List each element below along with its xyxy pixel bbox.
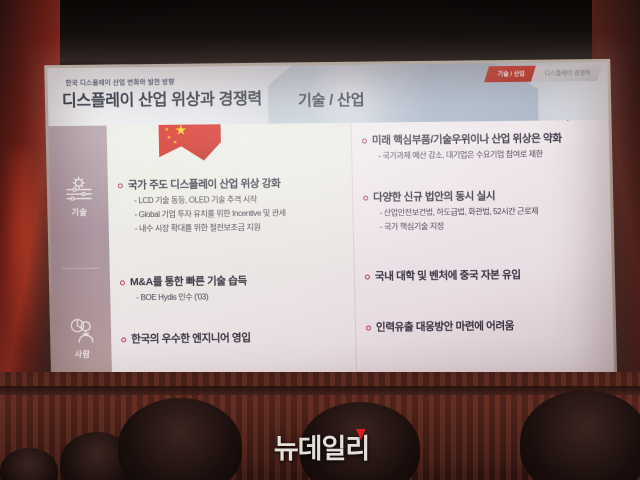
bullet-subpoint: - Global 기업 투자 유치를 위한 Incentive 및 관세: [134, 207, 344, 220]
bullet-heading-text: 인력유출 대응방안 마련에 어려움: [376, 318, 514, 335]
bullet-ring-icon: [120, 280, 125, 285]
bullet-heading-text: 국가 주도 디스플레이 산업 위상 강화: [128, 176, 281, 193]
audience-head: [118, 398, 242, 480]
bullet-ring-icon: [118, 183, 123, 188]
bullet-block: 국가 주도 디스플레이 산업 위상 강화 - LCD 기술 동등, OLED 기…: [118, 175, 345, 235]
bullet-ring-icon: [121, 337, 126, 342]
watermark-triangle-accent: [356, 429, 366, 440]
bullet-heading: 한국의 우수한 엔지니어 영입: [121, 329, 347, 347]
bullet-subpoint: - LCD 기술 동등, OLED 기술 추격 시작: [134, 193, 344, 206]
audience-head: [0, 448, 58, 480]
bullet-subpoint: - 국가 핵심기술 지정: [380, 219, 603, 233]
slide-header: 한국 디스플레이 산업 변화와 발전 방향 디스플레이 산업 위상과 경쟁력 기…: [47, 62, 608, 126]
bullet-block: 한국의 우수한 엔지니어 영입: [121, 329, 347, 347]
left-content-column: ★ ★ ★ ★ ★ 국가 주도 디스플레이 산업 위상 강화 - LCD 기술 …: [107, 123, 357, 410]
watermark-text: 뉴데일리: [274, 427, 369, 466]
bullet-heading: 국내 대학 및 벤처에 중국 자본 유입: [365, 266, 604, 284]
tab-display-competitiveness-label: 디스플레이 경쟁력: [545, 68, 591, 78]
bullet-heading: M&A를 통한 빠른 기술 습득: [120, 272, 346, 290]
right-column-spacer-1: [363, 165, 602, 190]
bullet-block: 미래 핵심부품/기술우위이나 산업 위상은 약화 - 국가과제 예산 감소, 대…: [362, 130, 602, 162]
right-column-spacer-2: [364, 236, 604, 269]
bullet-heading-text: M&A를 통한 빠른 기술 습득: [130, 273, 247, 289]
left-curtain-light-glow: [2, 150, 42, 350]
bullet-ring-icon: [366, 326, 371, 331]
tab-display-competitiveness[interactable]: 디스플레이 경쟁력: [531, 65, 602, 82]
bullet-heading-text: 다양한 신규 법안의 동시 실시: [373, 188, 495, 204]
bullet-heading: 국가 주도 디스플레이 산업 위상 강화: [118, 175, 344, 193]
bullet-subpoint: - BOE Hydis 인수 ('03): [136, 290, 346, 303]
bullet-heading-text: 국내 대학 및 벤처에 중국 자본 유입: [375, 267, 521, 284]
china-flag-small-star-4: ★: [173, 141, 178, 146]
tab-technology-industry-label: 기술 / 산업: [498, 69, 525, 78]
bullet-block: 인력유출 대응방안 마련에 어려움: [366, 317, 605, 335]
wall-rail-trim: [0, 386, 640, 395]
china-flag-small-star-2: ★: [165, 128, 170, 133]
bullet-subpoint: - 산업안전보건법, 하도급법, 화관법, 52시간 근로제: [379, 205, 602, 219]
category-icon-rail: 기술 사람: [49, 126, 113, 411]
slide-title: 디스플레이 산업 위상과 경쟁력: [62, 85, 262, 111]
gear-settings-icon: [64, 175, 95, 201]
tab-technology-industry[interactable]: 기술 / 산업: [484, 66, 536, 83]
china-flag-small-star-3: ★: [167, 136, 172, 141]
left-column-top-spacer: [117, 129, 344, 178]
rail-item-technology[interactable]: 기술: [49, 126, 110, 268]
bullet-heading: 미래 핵심부품/기술우위이나 산업 위상은 약화: [362, 130, 601, 148]
slide-body: 기술 사람: [49, 120, 615, 410]
bullet-block: 다양한 신규 법안의 동시 실시 - 산업안전보건법, 하도급법, 화관법, 5…: [363, 187, 603, 233]
south-korea-flag-icon: [526, 120, 601, 127]
newdaily-watermark: 뉴데일리: [274, 427, 366, 466]
bullet-ring-icon: [365, 275, 370, 280]
ceiling-shadow: [0, 0, 640, 62]
china-flag-big-star: ★: [174, 123, 187, 137]
left-column-lower-spacer: [121, 307, 347, 332]
bullet-subpoint: - 국가과제 예산 감소, 대기업은 수요기업 참여로 제한: [378, 148, 601, 162]
bullet-ring-icon: [362, 139, 367, 144]
bullet-heading: 인력유출 대응방안 마련에 어려움: [366, 317, 605, 335]
rail-item-people-label: 사람: [75, 349, 91, 360]
audience-head: [520, 390, 640, 480]
bullet-subpoint: - 내수 시장 확대를 위한 절전보조금 지원: [135, 221, 345, 234]
person-chart-icon: [67, 318, 98, 344]
bullet-ring-icon: [363, 196, 368, 201]
projection-screen-frame: 한국 디스플레이 산업 변화와 발전 방향 디스플레이 산업 위상과 경쟁력 기…: [44, 59, 618, 413]
right-column-spacer-3: [365, 287, 605, 320]
presentation-slide: 한국 디스플레이 산업 변화와 발전 방향 디스플레이 산업 위상과 경쟁력 기…: [47, 62, 614, 410]
bullet-block: M&A를 통한 빠른 기술 습득 - BOE Hydis 인수 ('03): [120, 272, 347, 304]
slide-section-title: 기술 / 산업: [298, 89, 365, 111]
right-content-column: 미래 핵심부품/기술우위이나 산업 위상은 약화 - 국가과제 예산 감소, 대…: [351, 120, 615, 407]
bullet-heading-text: 미래 핵심부품/기술우위이나 산업 위상은 약화: [372, 130, 562, 147]
left-column-mid-spacer: [119, 238, 346, 275]
rail-item-technology-label: 기술: [71, 207, 87, 218]
bullet-block: 국내 대학 및 벤처에 중국 자본 유입: [365, 266, 604, 284]
bullet-heading: 다양한 신규 법안의 동시 실시: [363, 187, 602, 205]
section-tab-bar: 기술 / 산업 디스플레이 경쟁력: [486, 65, 599, 82]
bullet-heading-text: 한국의 우수한 엔지니어 영입: [131, 330, 251, 346]
